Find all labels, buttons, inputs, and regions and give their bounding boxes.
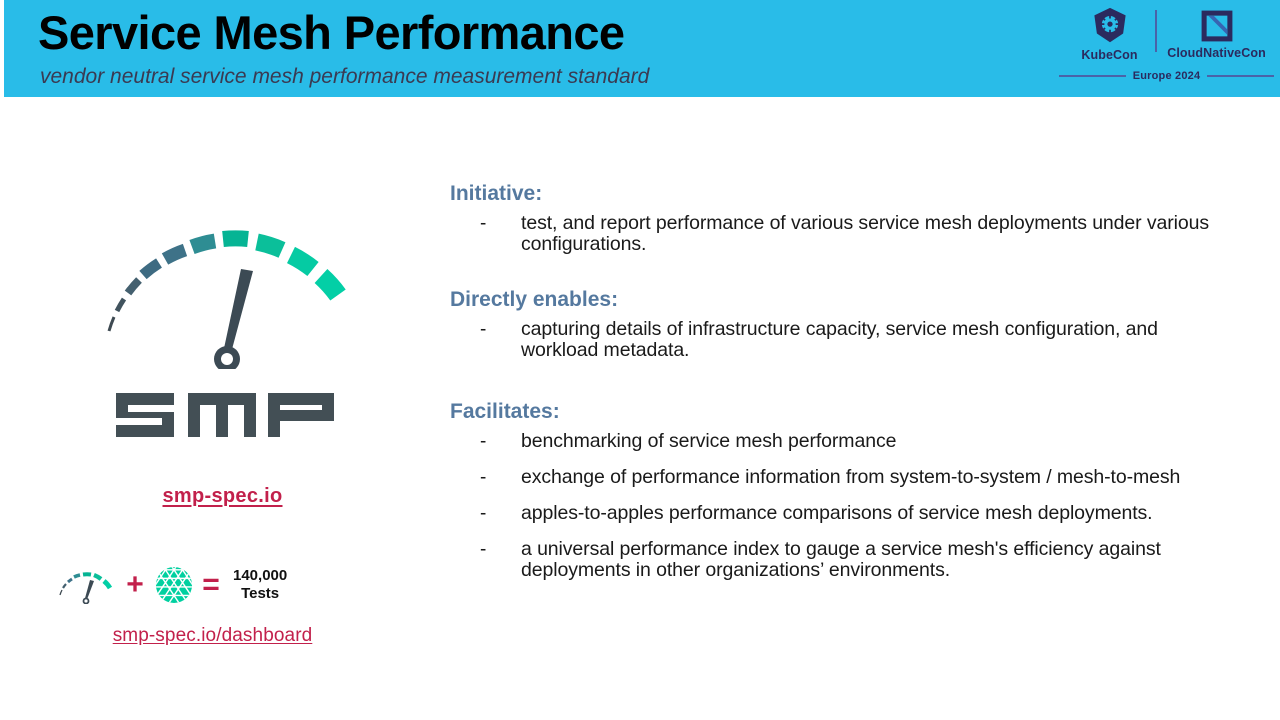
- tests-equation: +: [55, 559, 375, 611]
- cloudnativecon-block: CloudNativeCon: [1159, 4, 1274, 66]
- conference-logo: KubeCon CloudNativeCon Europe 2024: [1059, 4, 1274, 94]
- slide-root: Service Mesh Performance vendor neutral …: [0, 0, 1280, 720]
- bullet-marker: -: [480, 467, 486, 489]
- equals-operator: =: [193, 570, 229, 600]
- bullet-marker: -: [480, 213, 486, 235]
- bullet-marker: -: [480, 319, 486, 341]
- tests-result: 140,000 Tests: [233, 567, 287, 603]
- section-directly-enables: Directly enables: - capturing details of…: [450, 287, 1240, 374]
- cncf-square-icon: [1200, 9, 1234, 43]
- bullet-text: exchange of performance information from…: [521, 466, 1180, 488]
- bullet-text: apples-to-apples performance comparisons…: [521, 502, 1153, 524]
- list-item: - apples-to-apples performance compariso…: [450, 503, 1240, 524]
- smp-spec-link[interactable]: smp-spec.io: [0, 485, 445, 508]
- bullet-marker: -: [480, 539, 486, 561]
- content-panel: Initiative: - test, and report performan…: [450, 97, 1280, 720]
- rule-left: [1059, 75, 1126, 77]
- performance-gauge-icon-small: [55, 566, 117, 604]
- slide-header: Service Mesh Performance vendor neutral …: [4, 0, 1280, 97]
- list-item: - test, and report performance of variou…: [450, 213, 1240, 255]
- section-heading: Directly enables:: [450, 287, 1240, 313]
- plus-operator: +: [117, 570, 153, 600]
- tests-count: 140,000: [233, 567, 287, 585]
- kubecon-label: KubeCon: [1067, 48, 1152, 62]
- page-subtitle: vendor neutral service mesh performance …: [40, 64, 649, 90]
- section-heading: Initiative:: [450, 181, 1240, 207]
- conference-logo-row: KubeCon CloudNativeCon: [1059, 4, 1274, 66]
- section-heading: Facilitates:: [450, 399, 1240, 425]
- bullet-text: capturing details of infrastructure capa…: [521, 318, 1158, 361]
- kubecon-block: KubeCon: [1067, 4, 1152, 66]
- bullet-marker: -: [480, 431, 486, 453]
- smp-wordmark: [110, 375, 340, 447]
- tests-label: Tests: [233, 585, 287, 603]
- smp-dashboard-link[interactable]: smp-spec.io/dashboard: [0, 625, 425, 647]
- bullet-marker: -: [480, 503, 486, 525]
- list-item: - exchange of performance information fr…: [450, 467, 1240, 488]
- list-item: - capturing details of infrastructure ca…: [450, 319, 1240, 361]
- list-item: - a universal performance index to gauge…: [450, 539, 1240, 581]
- logo-divider: [1155, 10, 1157, 52]
- page-title: Service Mesh Performance: [38, 4, 624, 62]
- cloudnativecon-label: CloudNativeCon: [1159, 46, 1274, 60]
- kubernetes-helm-icon: [1090, 6, 1130, 46]
- performance-gauge-icon: [85, 209, 370, 369]
- smp-branding-panel: smp-spec.io: [0, 97, 450, 720]
- section-initiative: Initiative: - test, and report performan…: [450, 181, 1240, 268]
- bullet-text: benchmarking of service mesh performance: [521, 430, 896, 452]
- conference-edition: Europe 2024: [1133, 70, 1201, 82]
- list-item: - benchmarking of service mesh performan…: [450, 431, 1240, 452]
- bullet-text: test, and report performance of various …: [521, 212, 1209, 255]
- bullet-text: a universal performance index to gauge a…: [521, 538, 1161, 581]
- section-facilitates: Facilitates: - benchmarking of service m…: [450, 399, 1240, 594]
- rule-right: [1207, 75, 1274, 77]
- conference-edition-row: Europe 2024: [1059, 66, 1274, 86]
- meshery-mesh-circle-icon: [155, 566, 193, 604]
